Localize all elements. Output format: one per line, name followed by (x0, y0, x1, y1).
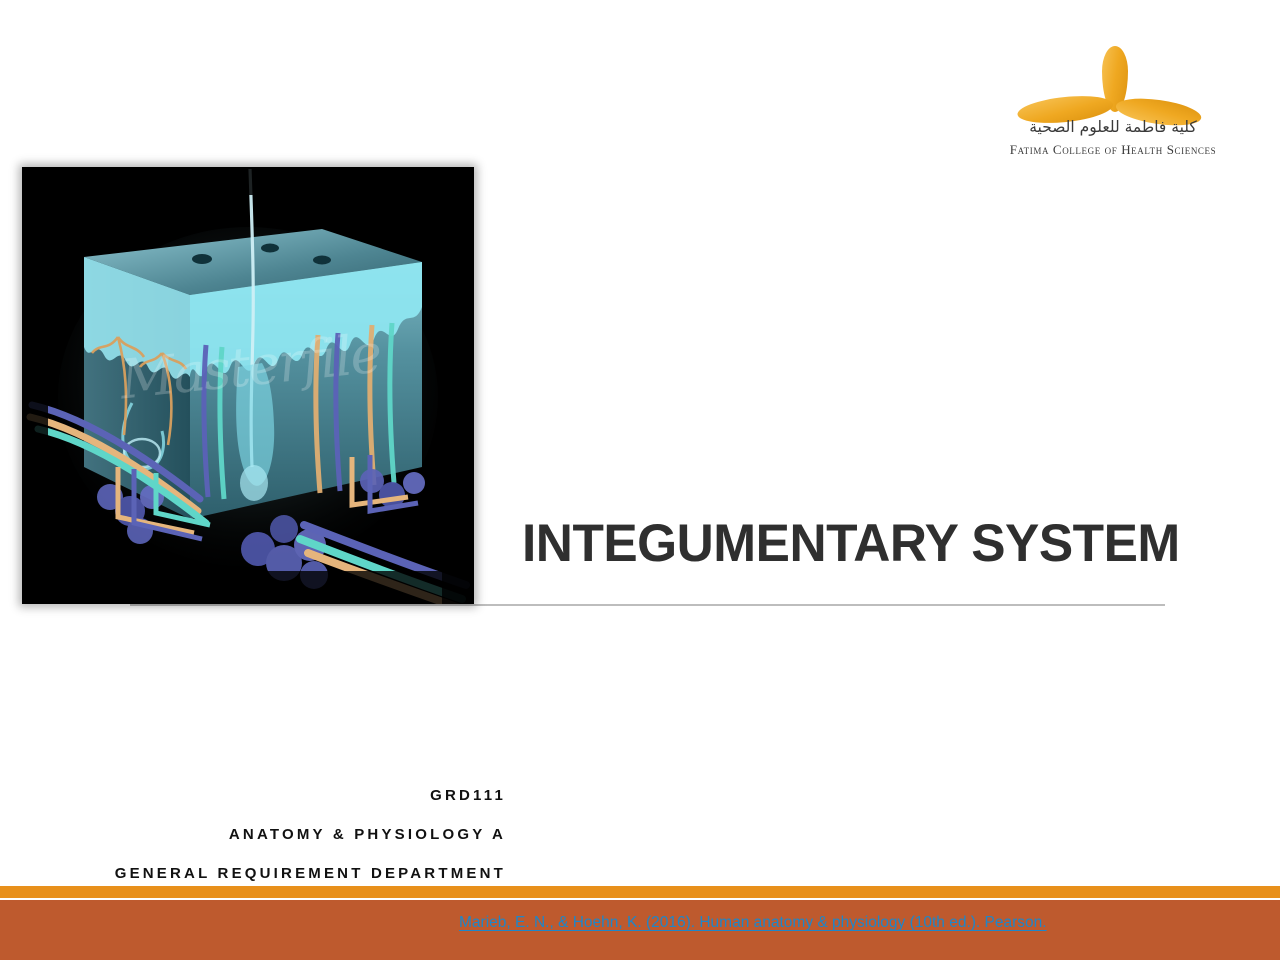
subtitle-block: GRD111 ANATOMY & PHYSIOLOGY A GENERAL RE… (0, 776, 506, 893)
college-logo: كلية فاطمة للعلوم الصحية Fatima College … (988, 38, 1238, 166)
skin-cross-section-image: Masterfile (22, 167, 474, 604)
title-divider-rule (130, 604, 1165, 606)
footer-accent-bar (0, 886, 1280, 898)
citation-link[interactable]: Marieb, E. N., & Hoehn, K. (2016). Human… (459, 914, 1047, 932)
subtitle-line-course-name: ANATOMY & PHYSIOLOGY A (0, 815, 506, 854)
logo-english-name: Fatima College of Health Sciences (988, 142, 1238, 158)
skin-diagram-graphic (22, 167, 474, 604)
slide-canvas: كلية فاطمة للعلوم الصحية Fatima College … (0, 0, 1280, 960)
logo-flower-icon (988, 38, 1238, 118)
logo-arabic-name: كلية فاطمة للعلوم الصحية (988, 118, 1238, 136)
subtitle-line-course-code: GRD111 (0, 776, 506, 815)
page-title: INTEGUMENTARY SYSTEM (522, 513, 1162, 575)
